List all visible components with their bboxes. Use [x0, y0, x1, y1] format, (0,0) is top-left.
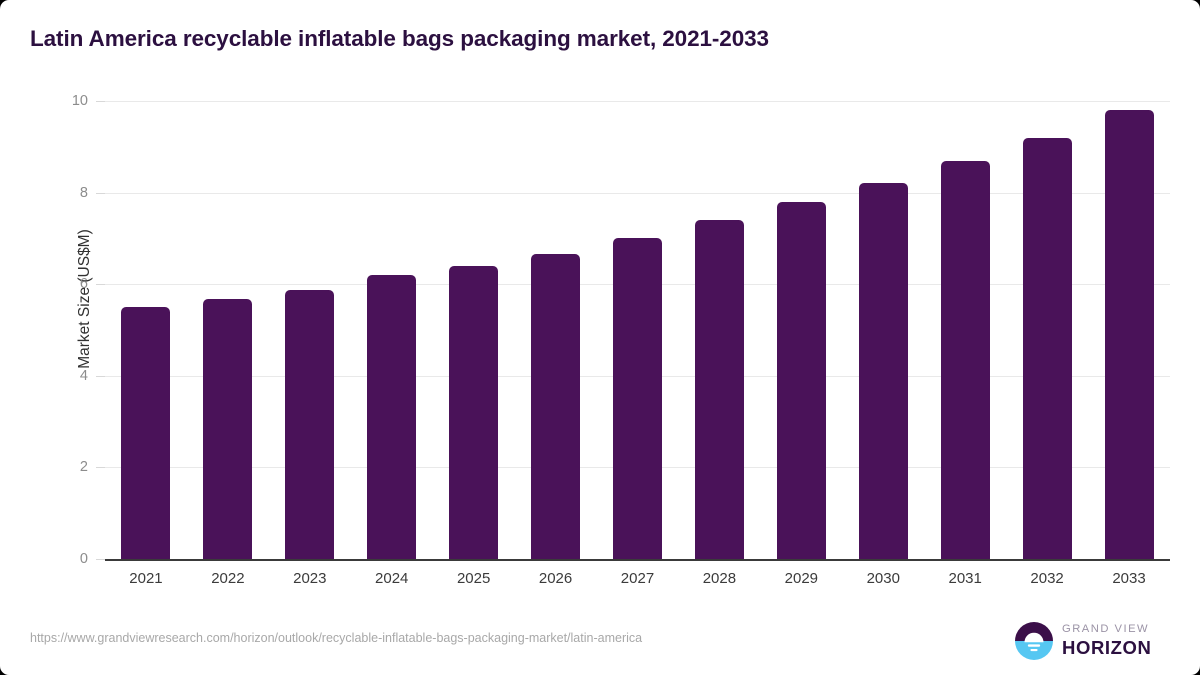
x-axis-tick-label: 2026 [515, 570, 597, 587]
x-axis-tick-label: 2031 [924, 570, 1006, 587]
x-axis-tick-label: 2028 [678, 570, 760, 587]
y-axis-tick-mark [96, 376, 105, 377]
y-axis-tick-mark [96, 284, 105, 285]
bar[interactable] [1105, 110, 1154, 559]
brand-logo[interactable]: GRAND VIEW HORIZON [1014, 619, 1170, 663]
bar[interactable] [613, 238, 662, 559]
y-axis-tick-label: 6 [28, 276, 88, 292]
bar[interactable] [531, 254, 580, 559]
bar[interactable] [449, 266, 498, 559]
x-axis-tick-label: 2029 [760, 570, 842, 587]
y-axis-tick-label: 10 [28, 93, 88, 109]
grand-view-horizon-logo-mark-icon [1014, 621, 1054, 661]
gridline [105, 101, 1170, 102]
bar[interactable] [367, 275, 416, 559]
bar[interactable] [695, 220, 744, 559]
chart-page: Latin America recyclable inflatable bags… [0, 0, 1200, 675]
bar[interactable] [1023, 138, 1072, 559]
x-axis-tick-label: 2025 [433, 570, 515, 587]
y-axis-tick-label: 0 [28, 551, 88, 567]
bar[interactable] [121, 307, 170, 559]
y-axis-tick-mark [96, 193, 105, 194]
y-axis-tick-label: 8 [28, 185, 88, 201]
x-axis-tick-label: 2030 [842, 570, 924, 587]
bar[interactable] [203, 299, 252, 559]
x-axis-tick-label: 2023 [269, 570, 351, 587]
logo-wordmark: GRAND VIEW HORIZON [1062, 622, 1172, 658]
gridline [105, 193, 1170, 194]
source-url[interactable]: https://www.grandviewresearch.com/horizo… [30, 631, 642, 645]
x-axis-tick-label: 2027 [597, 570, 679, 587]
x-axis-line [105, 559, 1170, 561]
x-axis-tick-label: 2032 [1006, 570, 1088, 587]
x-axis-tick-label: 2033 [1088, 570, 1170, 587]
x-axis-tick-label: 2022 [187, 570, 269, 587]
x-axis-tick-label: 2024 [351, 570, 433, 587]
logo-bottom-line: HORIZON [1062, 637, 1172, 658]
logo-top-line: GRAND VIEW [1062, 622, 1172, 637]
x-axis-tick-label: 2021 [105, 570, 187, 587]
y-axis-tick-mark [96, 467, 105, 468]
bar[interactable] [941, 161, 990, 559]
y-axis-title: Market Size (US$M) [76, 169, 94, 429]
bar[interactable] [285, 290, 334, 559]
chart-plot-area: Market Size (US$M) 0246810 2021202220232… [0, 0, 1200, 675]
y-axis-tick-label: 2 [28, 459, 88, 475]
y-axis-tick-mark [96, 559, 105, 560]
y-axis-tick-mark [96, 101, 105, 102]
bar[interactable] [777, 202, 826, 559]
y-axis-tick-label: 4 [28, 368, 88, 384]
bar[interactable] [859, 183, 908, 559]
